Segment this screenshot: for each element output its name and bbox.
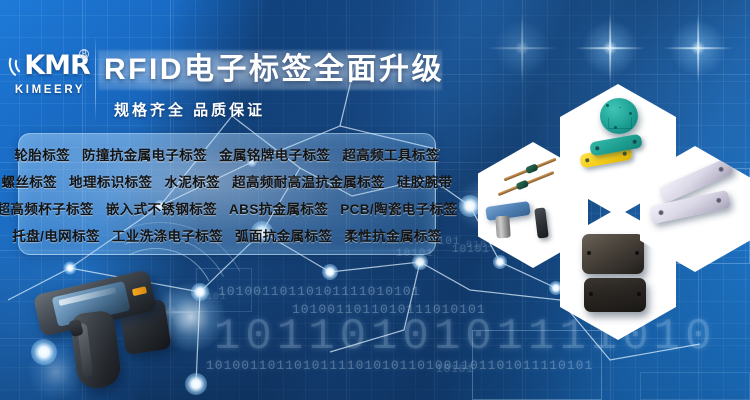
tag-hole-icon — [635, 251, 639, 255]
tag-item: ABS抗金属标签 — [229, 198, 328, 218]
tag-item: 水泥标签 — [164, 171, 220, 191]
brand-name: KIMEERY — [8, 84, 92, 96]
tag-item: 防撞抗金属电子标签 — [82, 144, 207, 164]
metal-cylinder-tag-product — [495, 216, 511, 239]
tag-hole-icon — [632, 139, 637, 144]
tag-item: 超高频工具标签 — [342, 144, 439, 164]
kmr-wave-logo-icon: KMR R — [8, 48, 92, 82]
abs-anti-metal-tag-product — [582, 234, 644, 274]
tag-row: 托盘/电网标签 工业洗涤电子标签 弧面抗金属标签 柔性抗金属标签 — [29, 221, 425, 248]
tag-item: 嵌入式不锈钢标签 — [106, 198, 217, 218]
tag-item: 超高频杯子标签 — [0, 198, 94, 218]
abs-anti-metal-tag-product — [584, 278, 646, 312]
nail-tag-product — [503, 158, 556, 182]
nail-head-icon — [515, 180, 529, 191]
tag-hole-icon — [622, 151, 627, 156]
handheld-rfid-reader[interactable] — [30, 276, 180, 394]
network-node — [64, 262, 77, 275]
network-node — [493, 255, 507, 269]
headline-block: RFID电子标签全面升级 — [104, 48, 444, 92]
tag-item: 超高频耐高温抗金属标签 — [232, 171, 385, 191]
product-tag-list-panel: 轮胎标签 防撞抗金属电子标签 金属铭牌电子标签 超高频工具标签 螺丝标签 地理标… — [18, 133, 436, 255]
tag-row: 超高频杯子标签 嵌入式不锈钢标签 ABS抗金属标签 PCB/陶瓷电子标签 — [29, 194, 425, 221]
tag-item: 工业洗涤电子标签 — [112, 225, 223, 245]
tag-hole-icon — [585, 158, 590, 163]
screw-hole-icon — [606, 104, 609, 107]
tag-hole-icon — [718, 166, 725, 173]
page-title: RFID电子标签全面升级 — [104, 48, 444, 92]
tag-hole-icon — [589, 292, 593, 296]
screw-hole-icon — [629, 112, 632, 115]
tag-item: 硅胶腕带 — [397, 171, 453, 191]
logo-divider — [95, 36, 96, 122]
tag-hole-icon — [595, 146, 600, 151]
tag-item: 弧面抗金属标签 — [235, 225, 332, 245]
network-node — [322, 264, 338, 280]
network-node — [412, 254, 428, 270]
teal-disc-tag-product — [600, 98, 638, 134]
black-stick-tag-product — [534, 207, 549, 238]
tag-item: PCB/陶瓷电子标签 — [340, 198, 457, 218]
tag-item: 螺丝标签 — [1, 171, 57, 191]
tag-hole-icon — [637, 292, 641, 296]
tag-item: 金属铭牌电子标签 — [219, 144, 330, 164]
tag-item: 托盘/电网标签 — [12, 225, 100, 245]
reader-brand-badge-icon — [132, 286, 147, 296]
page-subtitle: 规格齐全 品质保证 — [114, 99, 265, 120]
tag-hole-icon — [658, 210, 664, 216]
tag-item: 轮胎标签 — [14, 144, 70, 164]
nail-head-icon — [525, 163, 539, 174]
network-node — [459, 195, 481, 217]
tag-item: 柔性抗金属标签 — [344, 225, 441, 245]
nail-tag-product — [498, 171, 555, 196]
tag-hole-icon — [587, 251, 591, 255]
screw-hole-icon — [614, 126, 617, 129]
tag-row: 轮胎标签 防撞抗金属电子标签 金属铭牌电子标签 超高频工具标签 — [29, 140, 425, 167]
rfid-promo-banner: 10100110110101111010101 1010011011010111… — [0, 0, 750, 400]
tag-hole-icon — [716, 197, 722, 203]
tag-item: 地理标识标签 — [69, 171, 152, 191]
tag-row: 螺丝标签 地理标识标签 水泥标签 超高频耐高温抗金属标签 硅胶腕带 — [29, 167, 425, 194]
registered-trademark-icon: R — [79, 49, 89, 59]
brand-logo[interactable]: KMR R KIMEERY — [8, 48, 92, 110]
